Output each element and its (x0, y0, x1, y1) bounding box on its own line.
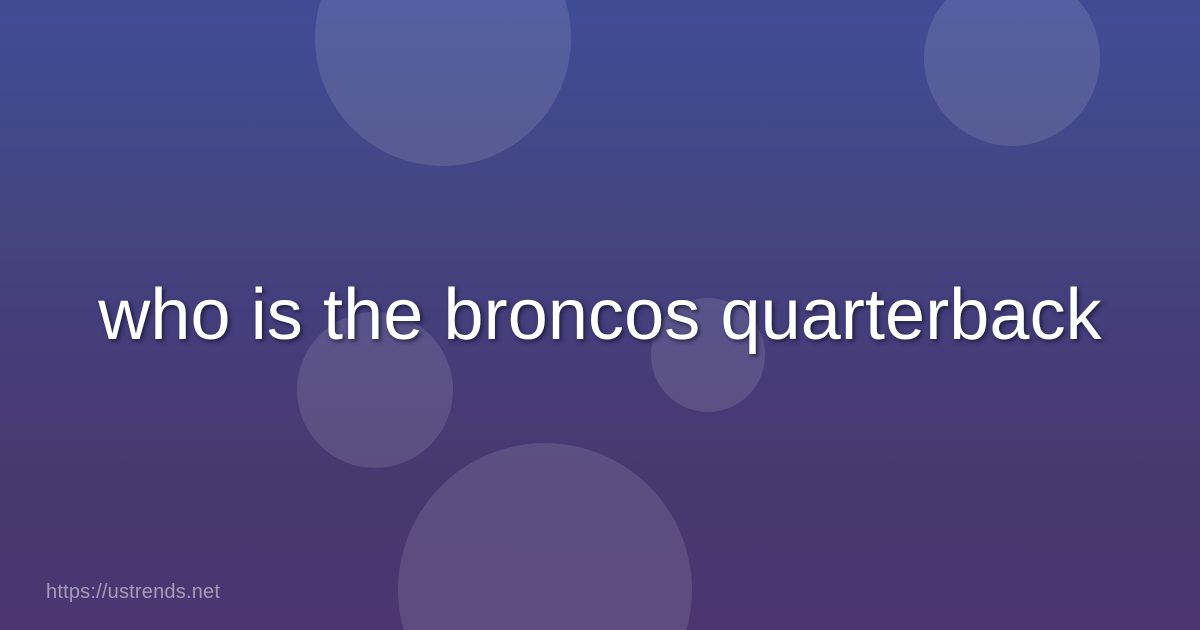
page-title: who is the broncos quarterback (98, 275, 1102, 356)
site-url-label: https://ustrends.net (46, 581, 220, 604)
headline-container: who is the broncos quarterback (0, 0, 1200, 630)
og-share-card: who is the broncos quarterback https://u… (0, 0, 1200, 630)
